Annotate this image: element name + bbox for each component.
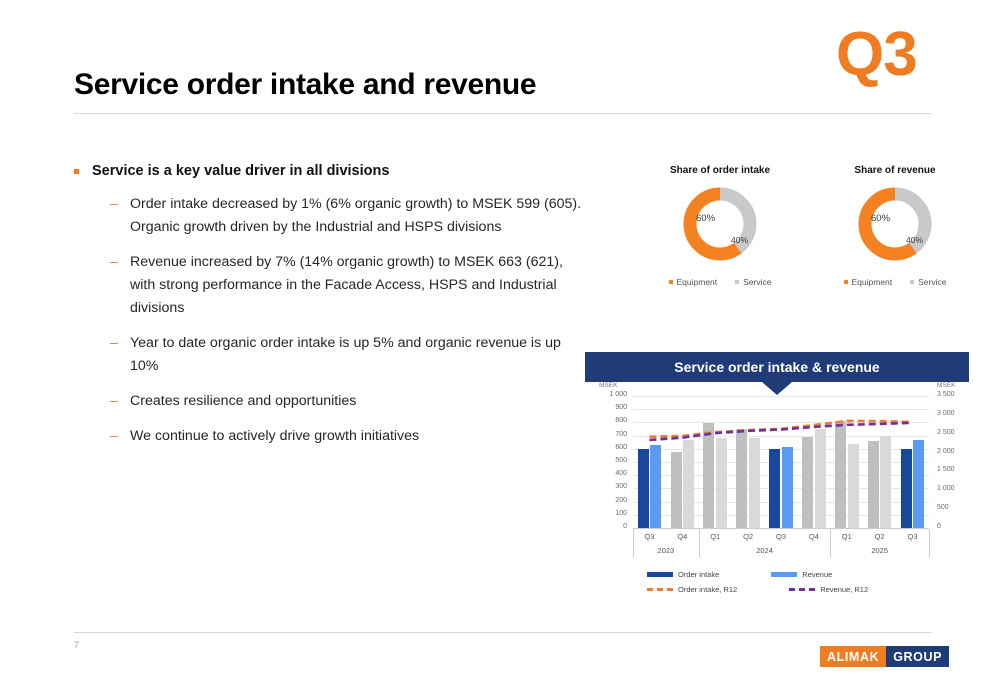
sub-bullet-5-text: We continue to actively drive growth ini… [130,428,419,444]
x-axis-tick: Q2 [733,532,763,541]
donut-svg [853,182,937,266]
sub-bullet-2-text: Revenue increased by 7% (14% organic gro… [130,254,563,316]
x-axis-year-label: 2024 [699,546,831,555]
donut-label-service: 40% [731,235,748,245]
donut-chart-revenue: Share of revenue 60% 40% Equipment Servi… [815,165,975,287]
quarter-badge: Q3 [836,24,917,86]
legend-item-service: Service [910,277,946,287]
sub-bullet-3: – Year to date organic order intake is u… [70,332,590,378]
donut-graphic: 60% 40% [815,182,975,268]
donut-graphic: 60% 40% [640,182,800,268]
legend-label: Order intake, R12 [678,585,737,594]
x-axis-year-label: 2023 [633,546,699,555]
donut-svg [678,182,762,266]
x-axis-year-label: 2025 [830,546,929,555]
legend-item-equipment: Equipment [844,277,893,287]
donut-title: Share of order intake [640,165,800,176]
line-revenue-r12 [649,423,912,440]
legend-label: Order intake [678,570,719,579]
page-number: 7 [74,640,79,650]
donut-label-equipment: 60% [871,213,890,224]
dash-bullet-icon: – [110,332,118,355]
legend-swatch-equipment-icon [844,280,848,284]
legend-label-equipment: Equipment [677,277,718,287]
legend-item-service: Service [735,277,771,287]
dash-bullet-icon: – [110,193,118,216]
chart-legend-item: Order intake [647,570,719,579]
legend-swatch-service-icon [910,280,914,284]
donut-label-service: 40% [906,235,923,245]
dash-bullet-icon: – [110,251,118,274]
chart-plot-area: 01002003004005006007008009001 00005001 0… [585,382,969,568]
chart-legend-item: Revenue, R12 [789,585,868,594]
legend-label-equipment: Equipment [852,277,893,287]
slide-root: Q3 Service order intake and revenue Serv… [0,0,1000,685]
x-axis-tick: Q3 [634,532,664,541]
x-axis-tick: Q3 [898,532,928,541]
legend-swatch-icon [771,572,797,577]
donut-title: Share of revenue [815,165,975,176]
x-axis-line [633,528,929,529]
legend-swatch-icon [647,588,673,591]
logo-alimak-text: ALIMAK [820,646,886,667]
chart-legend-item: Order intake, R12 [647,585,737,594]
year-separator [633,529,634,557]
sub-bullet-5: – We continue to actively drive growth i… [70,425,590,448]
sub-bullet-3-text: Year to date organic order intake is up … [130,335,561,374]
legend-swatch-icon [647,572,673,577]
sub-bullet-1: – Order intake decreased by 1% (6% organ… [70,193,590,239]
chart-legend-item: Revenue [771,570,832,579]
bullet-lead: Service is a key value driver in all div… [70,163,590,179]
legend-label-service: Service [918,277,946,287]
donut-label-equipment: 60% [696,213,715,224]
x-axis-tick: Q4 [667,532,697,541]
dash-bullet-icon: – [110,425,118,448]
x-axis-tick: Q1 [832,532,862,541]
chart-legend-row: Order intakeRevenue [585,570,969,579]
legend-swatch-service-icon [735,280,739,284]
legend-swatch-equipment-icon [669,280,673,284]
year-separator [830,529,831,557]
bullet-lead-text: Service is a key value driver in all div… [92,163,389,179]
dash-bullet-icon: – [110,390,118,413]
donut-legend: Equipment Service [815,277,975,287]
alimak-group-logo: ALIMAK GROUP [820,646,949,667]
legend-swatch-icon [789,588,815,591]
x-axis-tick: Q1 [700,532,730,541]
square-bullet-icon [74,169,79,174]
year-separator [929,529,930,557]
chart-panel-title: Service order intake & revenue [674,359,879,375]
x-axis-tick: Q2 [865,532,895,541]
legend-item-equipment: Equipment [669,277,718,287]
legend-label-service: Service [743,277,771,287]
sub-bullet-4-text: Creates resilience and opportunities [130,393,356,409]
logo-group-text: GROUP [886,646,949,667]
x-axis-tick: Q3 [766,532,796,541]
page-title: Service order intake and revenue [74,68,536,102]
chart-legend-row: Order intake, R12Revenue, R12 [585,585,969,594]
sub-bullet-4: – Creates resilience and opportunities [70,390,590,413]
donut-chart-order-intake: Share of order intake 60% 40% Equipment … [640,165,800,287]
sub-bullet-2: – Revenue increased by 7% (14% organic g… [70,251,590,320]
donut-legend: Equipment Service [640,277,800,287]
x-axis-tick: Q4 [799,532,829,541]
legend-label: Revenue, R12 [820,585,868,594]
year-separator [699,529,700,557]
footer-divider [74,632,932,633]
chart-legend: Order intakeRevenueOrder intake, R12Reve… [585,570,969,600]
bullet-list: Service is a key value driver in all div… [70,163,590,460]
chart-panel-header: Service order intake & revenue [585,352,969,382]
title-divider [74,113,932,114]
legend-label: Revenue [802,570,832,579]
sub-bullet-1-text: Order intake decreased by 1% (6% organic… [130,196,581,235]
chart-panel: Service order intake & revenue 010020030… [585,352,969,610]
